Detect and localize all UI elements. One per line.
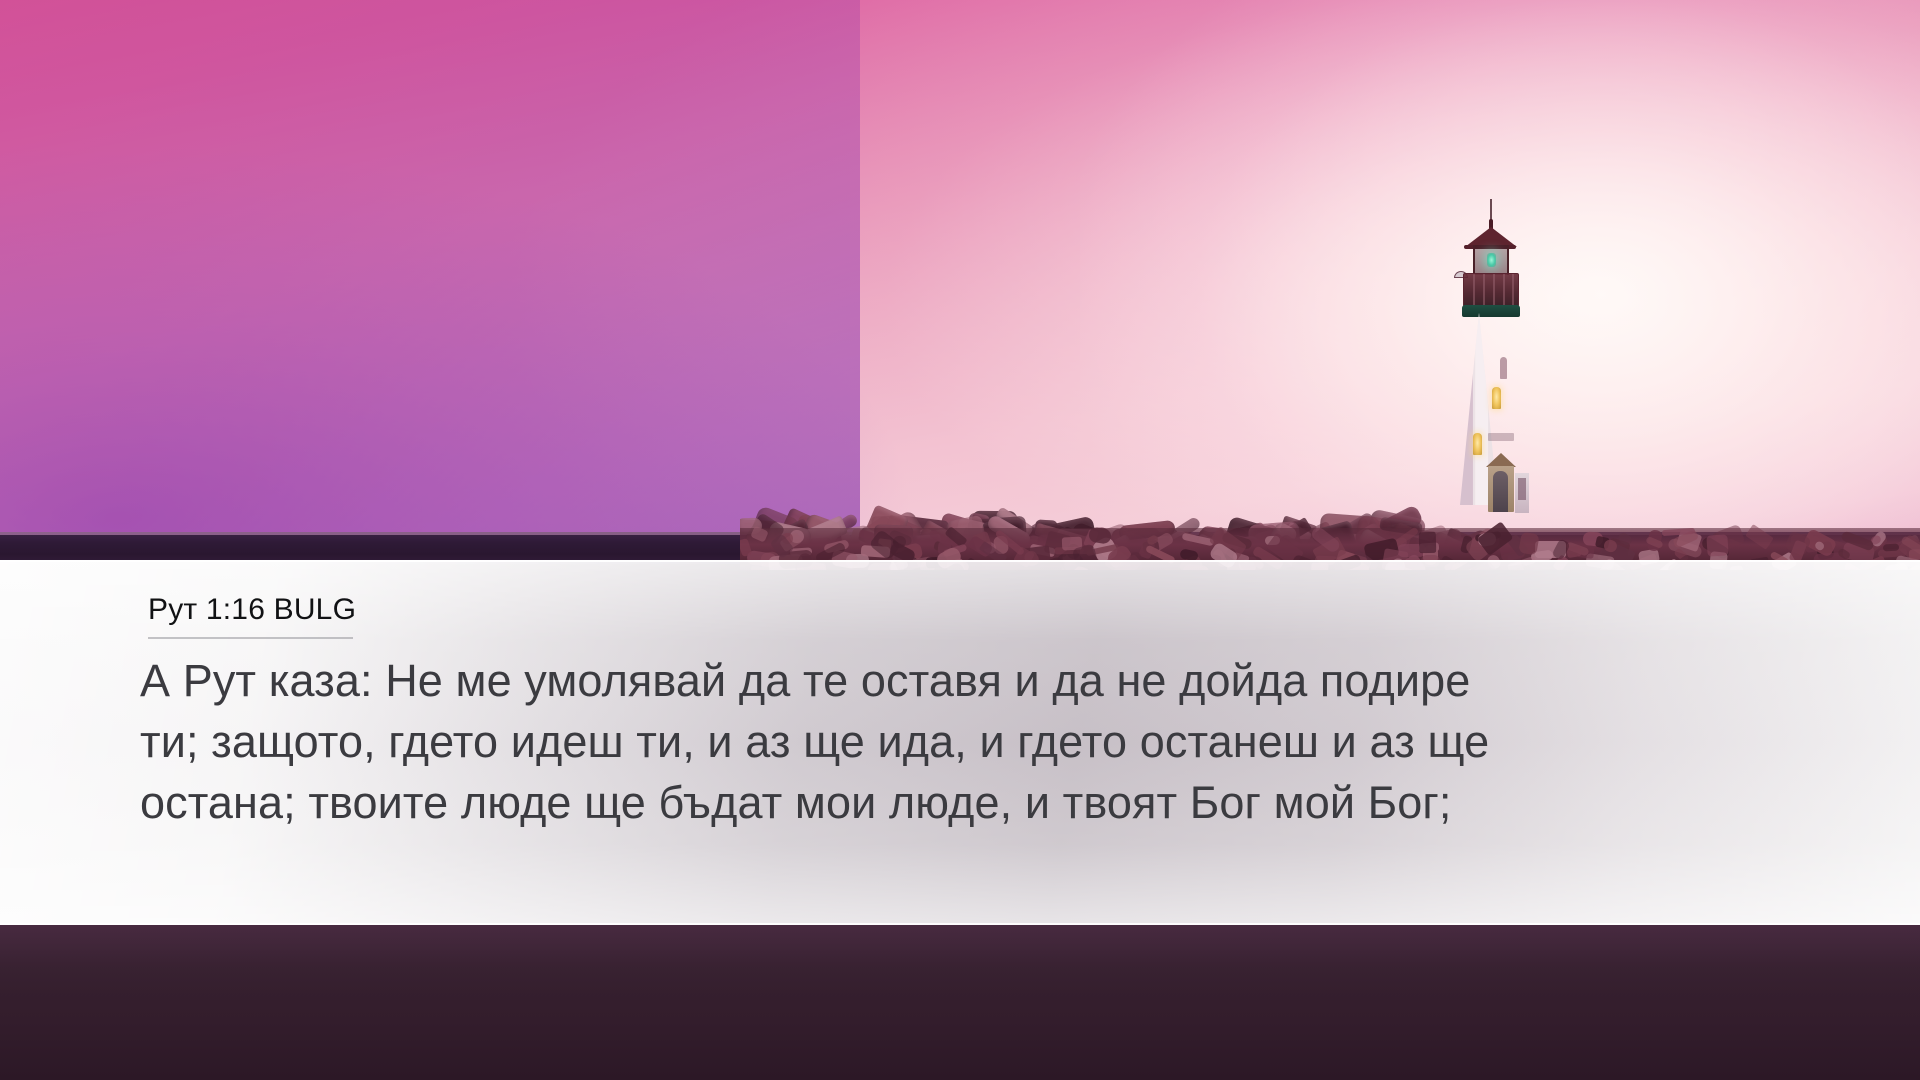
lighthouse-annex-window <box>1518 478 1526 500</box>
verse-reference-underline <box>148 637 353 639</box>
lighthouse <box>1432 215 1582 515</box>
verse-reference-label: Рут 1:16 BULG <box>148 590 356 630</box>
verse-reference: Рут 1:16 BULG <box>148 590 356 636</box>
lighthouse-window-upper-dark <box>1500 357 1507 379</box>
lighthouse-gallery-railing <box>1463 273 1519 307</box>
lighthouse-window-middle-lit <box>1492 387 1501 409</box>
sky-purple-wash <box>0 0 860 560</box>
lighthouse-door <box>1493 471 1508 512</box>
verse-text: А Рут каза: Не ме умолявай да те оставя … <box>140 650 1800 833</box>
caption-top-edge <box>0 560 1920 562</box>
verse-image-canvas: Рут 1:16 BULG А Рут каза: Не ме умолявай… <box>0 0 1920 1080</box>
lighthouse-window-lower-lit <box>1473 433 1482 455</box>
lighthouse-roof-cone <box>1465 227 1517 247</box>
rock-chip <box>1909 548 1920 559</box>
bottom-band-sheen <box>0 925 1920 995</box>
lighthouse-beacon-light <box>1487 253 1496 267</box>
verse-line-2: ти; защото, гдето идеш ти, и аз ще ида, … <box>140 711 1800 772</box>
verse-line-1: А Рут каза: Не ме умолявай да те оставя … <box>140 650 1800 711</box>
lighthouse-door-canopy <box>1486 453 1516 467</box>
lighthouse-name-plaque <box>1488 433 1514 441</box>
rock-chip <box>1518 531 1539 555</box>
rock-chip <box>1419 532 1437 553</box>
lighthouse-antenna-mast <box>1490 199 1492 221</box>
rock-chip <box>1706 534 1728 556</box>
rock-breakwater <box>740 470 1920 570</box>
verse-line-3: остана; твоите люде ще бъдат мои люде, и… <box>140 772 1800 833</box>
